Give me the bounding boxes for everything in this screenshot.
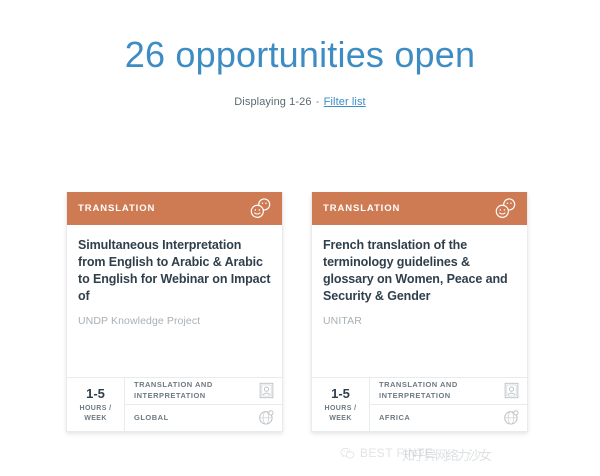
- card-body: French translation of the terminology gu…: [312, 225, 527, 377]
- results-summary: Displaying 1-26 - Filter list: [0, 96, 600, 108]
- globe-icon: [258, 409, 275, 426]
- speech-bubbles-icon: [494, 198, 518, 220]
- card-body: Simultaneous Interpretation from English…: [67, 225, 282, 377]
- wechat-icon: [340, 447, 355, 460]
- globe-icon: [503, 409, 520, 426]
- person-badge-icon: [503, 382, 520, 399]
- meta-row-location: AFRICA: [370, 405, 527, 432]
- page-header: 26 opportunities open Displaying 1-26 - …: [0, 0, 600, 108]
- opportunity-card[interactable]: TRANSLATION Simultaneous Interpretation …: [66, 192, 283, 432]
- card-footer: 1-5 HOURS / WEEK TRANSLATION AND INTERPR…: [67, 377, 282, 431]
- card-banner: TRANSLATION: [67, 192, 282, 225]
- hours-unit-line2: WEEK: [84, 415, 107, 422]
- hours-value: 1-5: [331, 387, 350, 401]
- opportunity-title: Simultaneous Interpretation from English…: [78, 237, 271, 305]
- meta-row-category: TRANSLATION AND INTERPRETATION: [125, 378, 282, 405]
- card-footer: 1-5 HOURS / WEEK TRANSLATION AND INTERPR…: [312, 377, 527, 431]
- hours-unit-line1: HOURS /: [80, 405, 112, 412]
- card-category-label: TRANSLATION: [323, 203, 400, 214]
- card-category-label: TRANSLATION: [78, 203, 155, 214]
- card-meta: TRANSLATION AND INTERPRETATION AFRICA: [370, 378, 527, 431]
- location-text: GLOBAL: [134, 413, 169, 424]
- card-meta: TRANSLATION AND INTERPRETATION GLOBAL: [125, 378, 282, 431]
- person-badge-icon: [258, 382, 275, 399]
- hours-unit: HOURS / WEEK: [325, 404, 357, 423]
- meta-row-category: TRANSLATION AND INTERPRETATION: [370, 378, 527, 405]
- opportunity-title: French translation of the terminology gu…: [323, 237, 516, 305]
- watermark-cjk-text: 知乎异网络力沙女: [402, 445, 490, 464]
- displaying-count: Displaying 1-26: [234, 96, 311, 108]
- hours-value: 1-5: [86, 387, 105, 401]
- hours-unit: HOURS / WEEK: [80, 404, 112, 423]
- location-text: AFRICA: [379, 413, 410, 424]
- hours-per-week: 1-5 HOURS / WEEK: [312, 378, 370, 431]
- opportunity-card[interactable]: TRANSLATION French translation of the te…: [311, 192, 528, 432]
- meta-row-location: GLOBAL: [125, 405, 282, 432]
- filter-list-link[interactable]: Filter list: [324, 96, 366, 108]
- category-text: TRANSLATION AND INTERPRETATION: [379, 380, 503, 401]
- speech-bubbles-icon: [249, 198, 273, 220]
- opportunity-cards-row: TRANSLATION Simultaneous Interpretation …: [66, 192, 528, 432]
- hours-per-week: 1-5 HOURS / WEEK: [67, 378, 125, 431]
- opportunity-organization: UNDP Knowledge Project: [78, 315, 271, 327]
- category-text: TRANSLATION AND INTERPRETATION: [134, 380, 258, 401]
- page-title: 26 opportunities open: [0, 34, 600, 75]
- watermark-text: BEST FINTE: [360, 446, 433, 460]
- hours-unit-line1: HOURS /: [325, 405, 357, 412]
- card-banner: TRANSLATION: [312, 192, 527, 225]
- summary-separator: -: [315, 96, 321, 108]
- opportunity-organization: UNITAR: [323, 315, 516, 327]
- hours-unit-line2: WEEK: [329, 415, 352, 422]
- watermark: BEST FINTE: [340, 446, 433, 460]
